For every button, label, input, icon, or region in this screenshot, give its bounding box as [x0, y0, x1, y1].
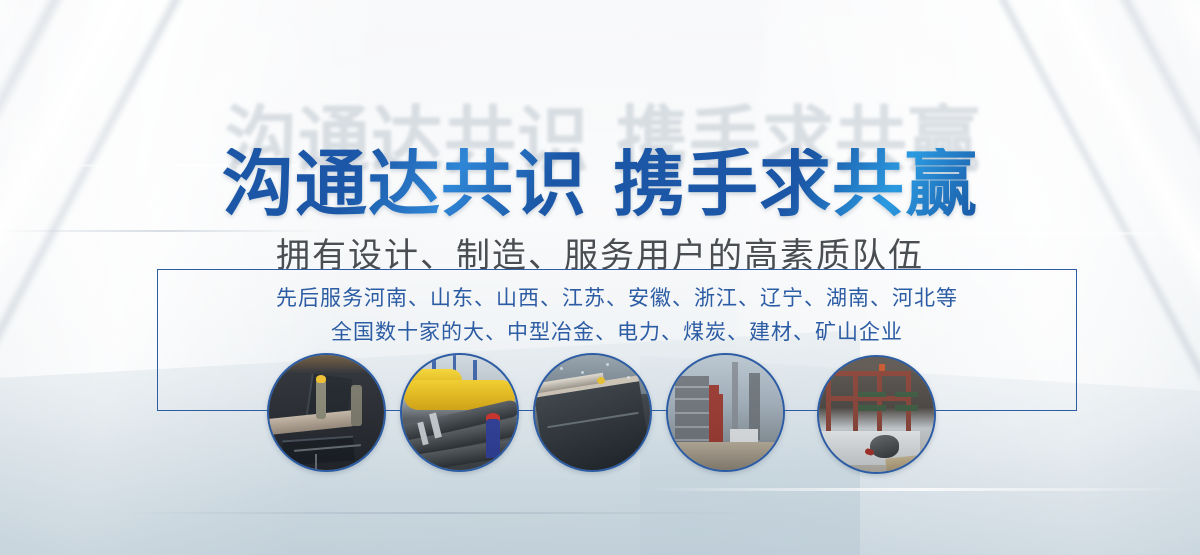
promotional-banner: 沟通达共识 携手求共赢 沟通达共识 携手求共赢 拥有设计、制造、服务用户的高素质… [0, 0, 1200, 555]
steel-structure-site-photo [666, 353, 785, 472]
photo-strip [0, 0, 1200, 555]
yellow-vessel-pipes-photo [400, 353, 519, 472]
tank-interior-workers-photo [267, 353, 386, 472]
workshop-fabrication-photo [817, 355, 936, 474]
steel-duct-panel-photo [533, 353, 652, 472]
